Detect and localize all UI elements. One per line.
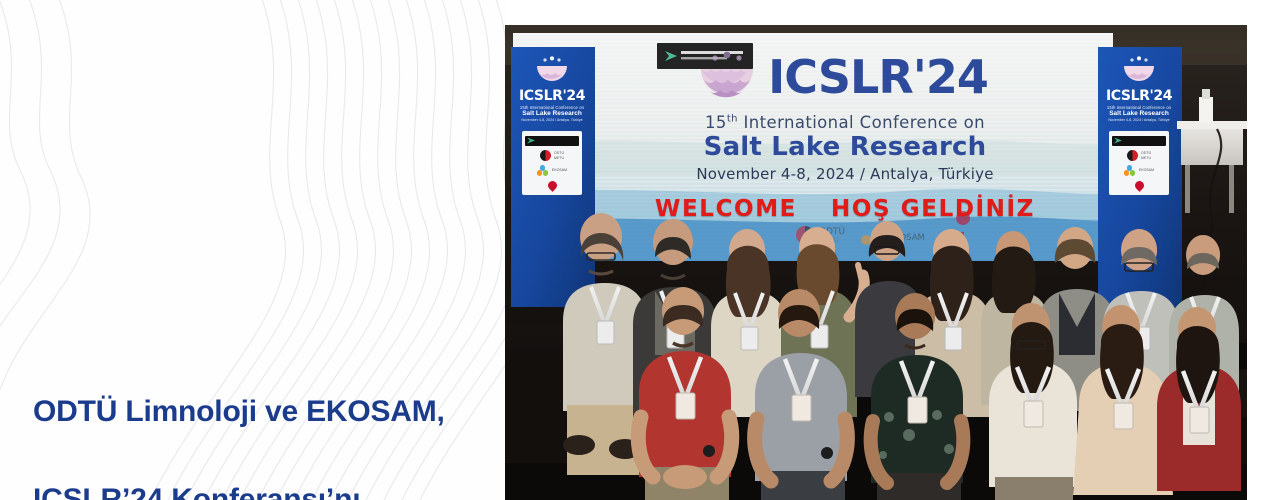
conference-group-photo: ODTÜ METU EKOSAM [505, 25, 1247, 500]
group-of-participants [505, 25, 1247, 500]
participant-standing-right [1195, 289, 1247, 425]
headline-line-1: ODTÜ Limnoloji ve EKOSAM, [33, 390, 493, 434]
left-content-panel: ODTÜ Limnoloji ve EKOSAM, ICSLR’24 Konfe… [0, 0, 505, 500]
page-title: ODTÜ Limnoloji ve EKOSAM, ICSLR’24 Konfe… [33, 346, 493, 500]
headline-line-2: ICSLR’24 Konferansı’nı [33, 478, 493, 500]
